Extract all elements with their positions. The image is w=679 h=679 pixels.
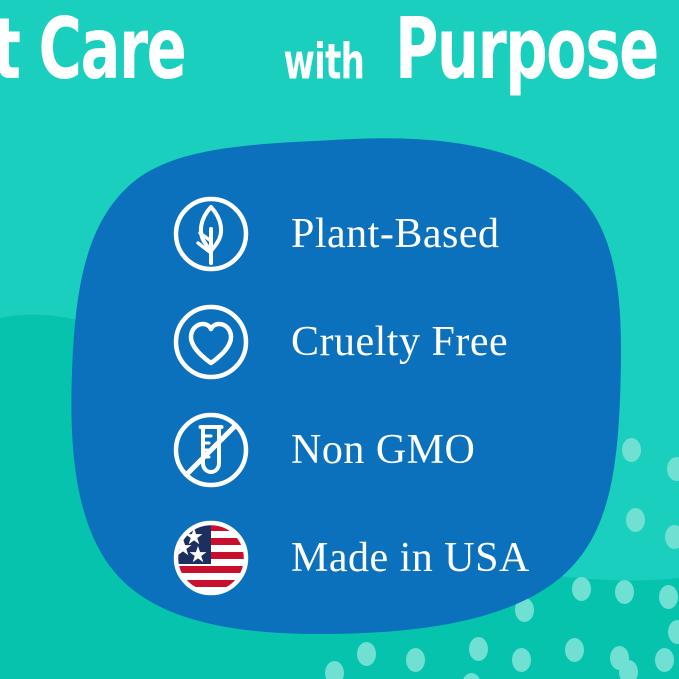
headline-part-one: Pet Care (0, 7, 186, 92)
feature-row-non-gmo[interactable]: Non GMO (170, 396, 590, 504)
dot (619, 660, 638, 679)
dot (565, 638, 584, 662)
usa-flag-circle-icon (170, 517, 252, 599)
pet-care-with-purpose-banner: Pet Care with Purpose ® Plant-Based (0, 0, 679, 679)
dot (659, 585, 678, 609)
feature-label-cruelty-free: Cruelty Free (291, 321, 508, 363)
dot (667, 457, 679, 481)
dot (626, 508, 645, 532)
dot (325, 661, 344, 679)
dot (406, 648, 425, 672)
feature-row-made-in-usa[interactable]: Made in USA (170, 504, 590, 612)
dot (512, 648, 531, 672)
dot (668, 620, 679, 644)
headline: Pet Care with Purpose ® (0, 12, 679, 122)
heart-in-circle-icon (170, 301, 252, 383)
feature-label-plant-based: Plant-Based (291, 213, 499, 255)
no-gmo-test-tube-icon (170, 409, 252, 491)
headline-part-with: with (282, 37, 366, 86)
dot (622, 438, 641, 462)
feature-list: Plant-Based Cruelty Free (170, 180, 590, 612)
feature-row-cruelty-free[interactable]: Cruelty Free (170, 288, 590, 396)
dot (469, 637, 488, 661)
leaf-in-circle-icon (170, 193, 252, 275)
headline-part-purpose: Purpose (395, 7, 658, 92)
dot (655, 648, 674, 672)
dot (665, 525, 679, 549)
dot (357, 642, 376, 666)
feature-label-made-in-usa: Made in USA (291, 537, 530, 579)
feature-row-plant-based[interactable]: Plant-Based (170, 180, 590, 288)
dot (615, 580, 634, 604)
dot (462, 673, 481, 679)
feature-label-non-gmo: Non GMO (291, 429, 475, 471)
